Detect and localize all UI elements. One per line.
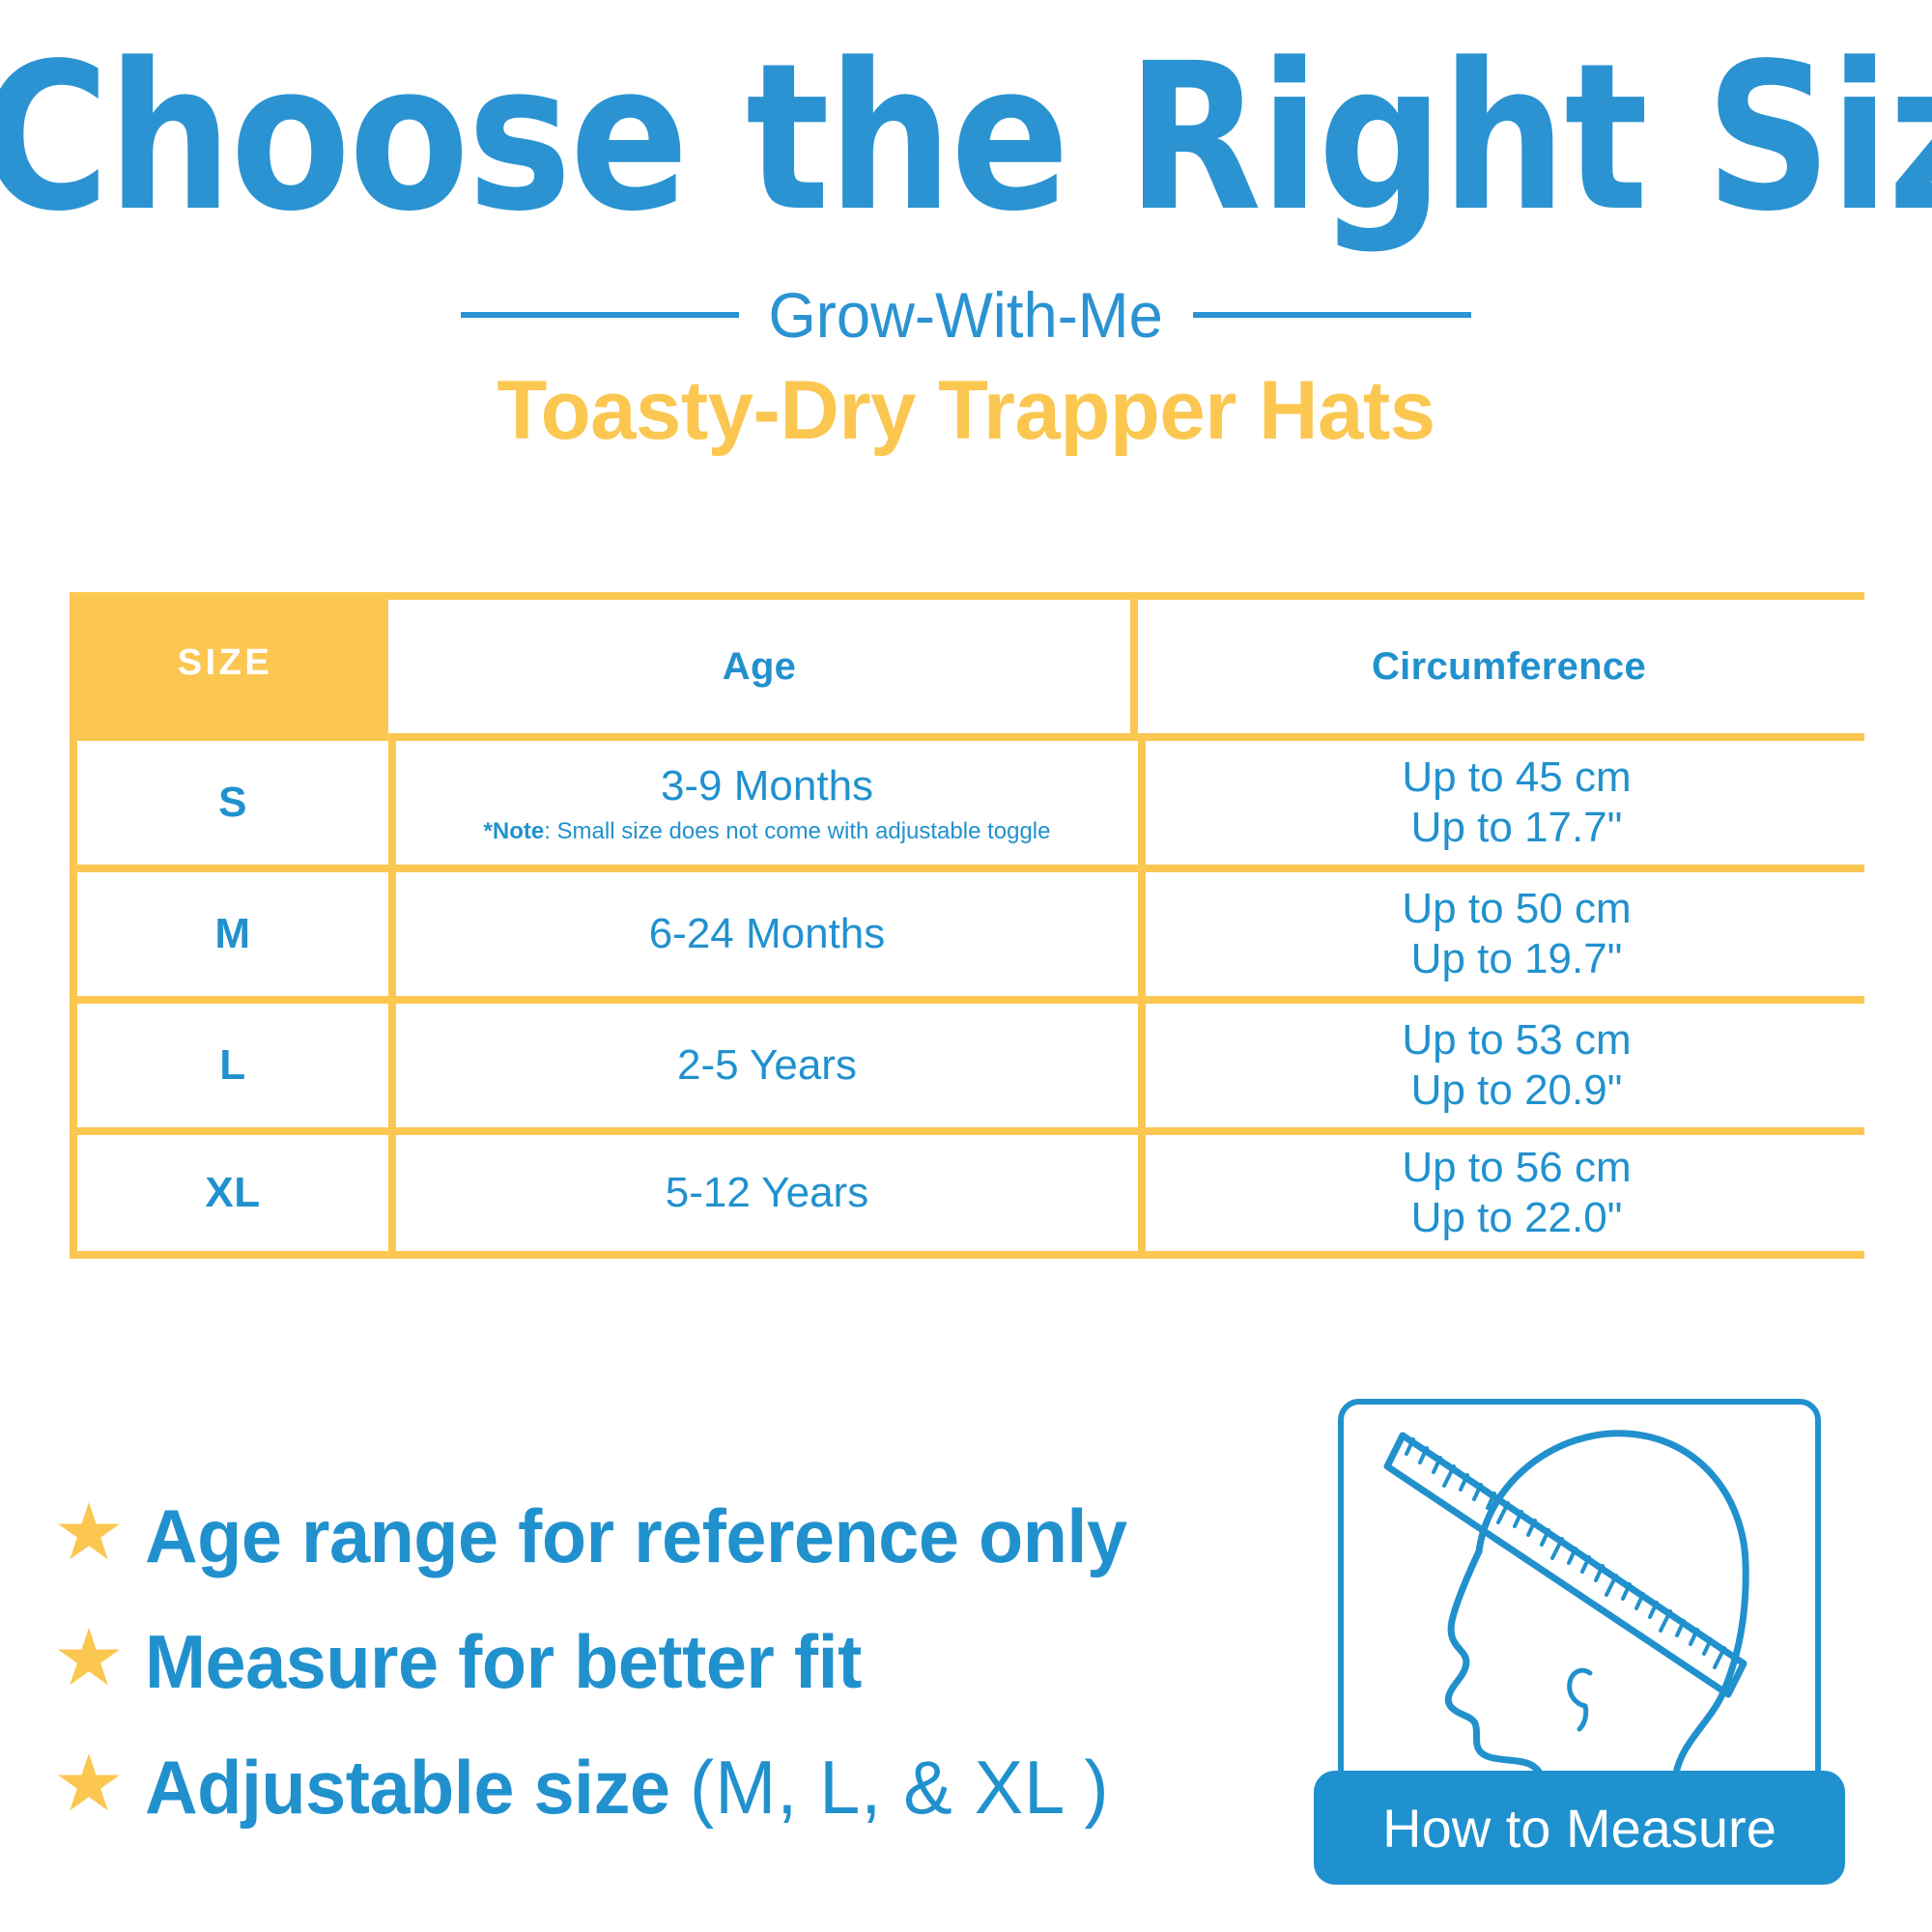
age-note-prefix: *Note: [484, 818, 545, 844]
age-value: 5-12 Years: [666, 1168, 868, 1218]
circumference-in: Up to 17.7": [1411, 803, 1623, 853]
list-item: Measure for better fit: [58, 1599, 1304, 1724]
cell-age: 5-12 Years: [396, 1135, 1138, 1251]
size-value: S: [218, 779, 247, 827]
cell-size: S: [77, 741, 388, 865]
circumference-in: Up to 22.0": [1411, 1193, 1623, 1243]
cell-circumference: Up to 50 cm Up to 19.7": [1146, 872, 1888, 996]
circumference-cm: Up to 56 cm: [1402, 1143, 1631, 1193]
star-icon: [58, 1502, 120, 1564]
star-icon: [58, 1753, 120, 1815]
bullet-label-main: Adjustable size: [145, 1745, 670, 1830]
circumference-cm: Up to 50 cm: [1402, 884, 1631, 934]
head-profile-with-ruler-icon: [1344, 1405, 1815, 1818]
column-header-circumference-label: Circumference: [1372, 645, 1646, 689]
age-value: 3-9 Months: [661, 761, 873, 811]
table-header-row: SIZE Age Circumference: [70, 592, 1864, 733]
table-row: L 2-5 Years Up to 53 cm Up to 20.9": [70, 996, 1864, 1127]
cell-circumference: Up to 56 cm Up to 22.0": [1146, 1135, 1888, 1251]
size-value: XL: [205, 1169, 260, 1217]
cell-size: XL: [77, 1135, 388, 1251]
bullet-list: Age range for reference only Measure for…: [58, 1473, 1304, 1850]
measure-illustration-frame: [1338, 1399, 1821, 1824]
size-value: M: [214, 910, 250, 958]
column-header-size: SIZE: [70, 592, 381, 733]
size-value: L: [219, 1041, 245, 1090]
list-item: Age range for reference only: [58, 1473, 1304, 1599]
ruler-icon: [1387, 1435, 1744, 1694]
table-row: S 3-9 Months *Note: Small size does not …: [70, 733, 1864, 865]
table-row: XL 5-12 Years Up to 56 cm Up to 22.0": [70, 1127, 1864, 1259]
page-title: Choose the Right Size: [0, 37, 1932, 240]
column-header-circumference: Circumference: [1138, 600, 1880, 733]
age-note: *Note: Small size does not come with adj…: [484, 819, 1051, 844]
bullet-label-suffix: (M, L, & XL ): [690, 1745, 1109, 1830]
cell-age: 3-9 Months *Note: Small size does not co…: [396, 741, 1138, 865]
cell-size: L: [77, 1004, 388, 1127]
age-note-body: : Small size does not come with adjustab…: [544, 818, 1050, 844]
bullet-label: Measure for better fit: [145, 1618, 862, 1706]
table-row: M 6-24 Months Up to 50 cm Up to 19.7": [70, 865, 1864, 996]
circumference-in: Up to 19.7": [1411, 934, 1623, 984]
list-item: Adjustable size (M, L, & XL ): [58, 1724, 1304, 1850]
size-chart-infographic: Choose the Right Size Grow-With-Me Toast…: [0, 0, 1932, 1932]
how-to-measure-label[interactable]: How to Measure: [1314, 1771, 1845, 1885]
age-value: 6-24 Months: [649, 909, 886, 959]
subtitle-row: Grow-With-Me: [0, 278, 1932, 352]
bullet-label: Age range for reference only: [145, 1492, 1127, 1580]
cell-size: M: [77, 872, 388, 996]
rule-left: [461, 312, 739, 318]
cell-circumference: Up to 45 cm Up to 17.7": [1146, 741, 1888, 865]
how-to-measure-card[interactable]: How to Measure: [1338, 1399, 1821, 1891]
rule-right: [1193, 312, 1471, 318]
cell-circumference: Up to 53 cm Up to 20.9": [1146, 1004, 1888, 1127]
circumference-cm: Up to 45 cm: [1402, 753, 1631, 803]
age-value: 2-5 Years: [677, 1040, 857, 1091]
star-icon: [58, 1628, 120, 1690]
bullet-label: Adjustable size (M, L, & XL ): [145, 1744, 1109, 1832]
circumference-cm: Up to 53 cm: [1402, 1015, 1631, 1065]
circumference-in: Up to 20.9": [1411, 1065, 1623, 1116]
cell-age: 6-24 Months: [396, 872, 1138, 996]
product-line-title: Toasty-Dry Trapper Hats: [10, 363, 1922, 459]
size-table: SIZE Age Circumference S 3-9 Months *Not…: [70, 592, 1864, 1259]
subtitle: Grow-With-Me: [769, 278, 1163, 352]
column-header-age: Age: [388, 600, 1130, 733]
cell-age: 2-5 Years: [396, 1004, 1138, 1127]
column-header-age-label: Age: [723, 645, 796, 689]
